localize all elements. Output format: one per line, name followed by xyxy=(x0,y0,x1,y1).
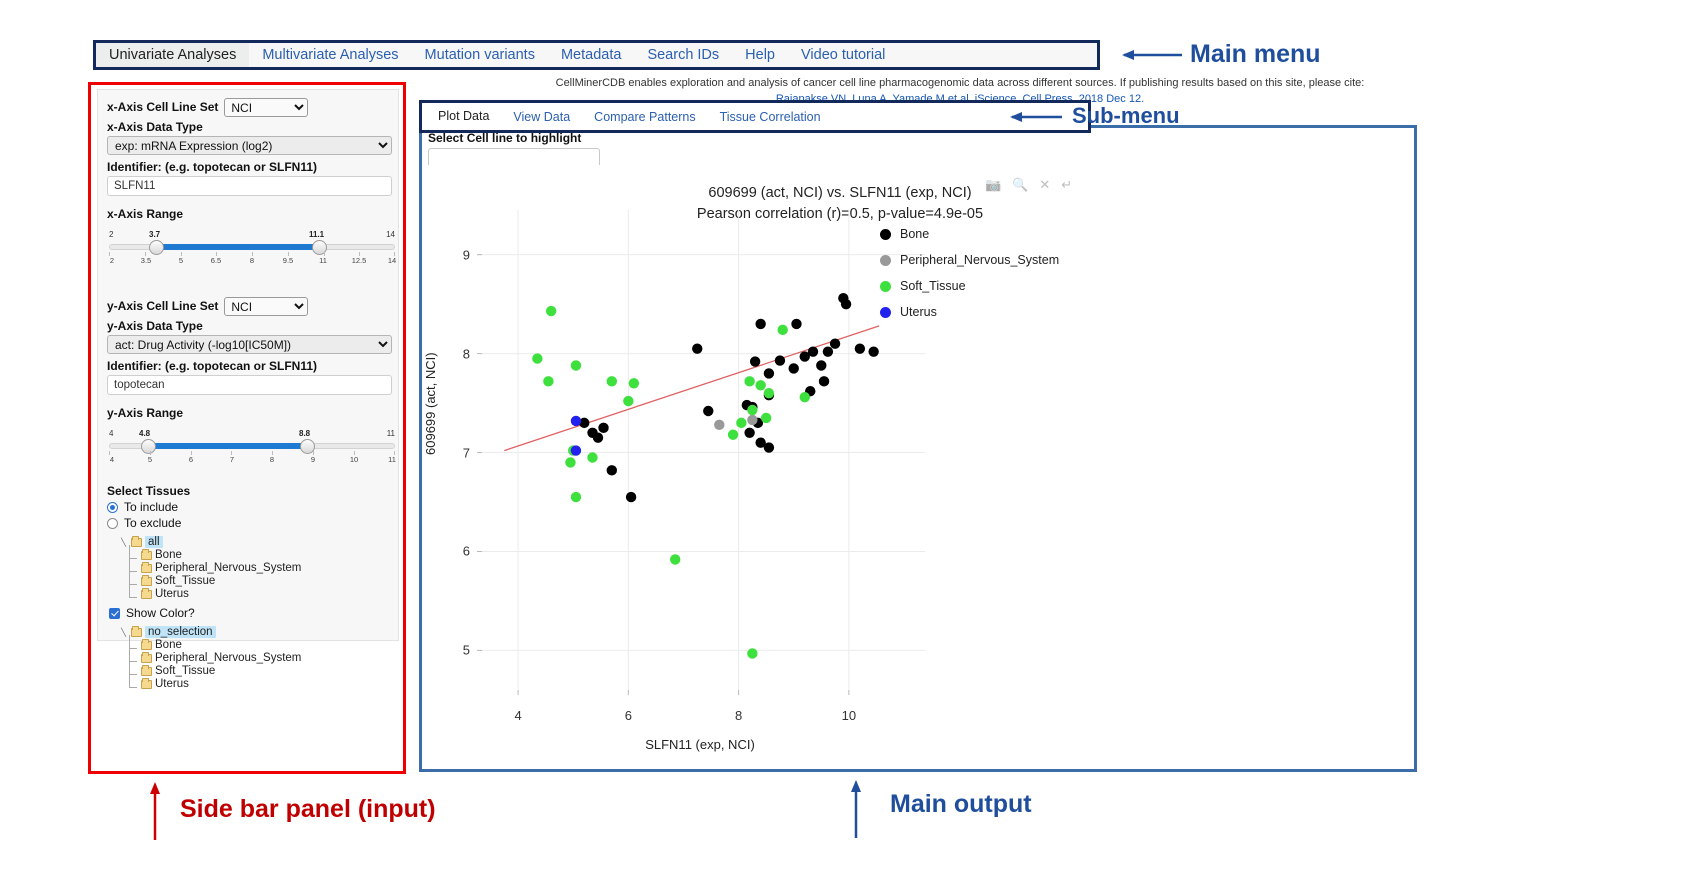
folder-icon xyxy=(141,680,152,689)
show-color-checkbox-icon[interactable] xyxy=(109,608,120,619)
x-tick-label: 2 xyxy=(110,256,114,265)
x-axis-data-type-label: x-Axis Data Type xyxy=(107,120,389,134)
x-range-min-label: 2 xyxy=(109,230,113,239)
plot-legend: Bone Peripheral_Nervous_System Soft_Tiss… xyxy=(880,227,1059,331)
annotation-sidebar: Side bar panel (input) xyxy=(180,795,436,824)
y-range-min-label: 4 xyxy=(109,429,113,438)
grid-lines xyxy=(477,210,925,690)
folder-icon xyxy=(141,641,152,650)
menu-label: Metadata xyxy=(561,47,621,63)
y-tick-label: 9 xyxy=(440,247,470,262)
menu-label: Mutation variants xyxy=(425,47,535,63)
tissue-exclude-radio-row[interactable]: To exclude xyxy=(107,516,389,530)
y-axis-range-title: y-Axis Range xyxy=(107,406,389,420)
x-slider-fill xyxy=(155,244,319,250)
folder-icon xyxy=(141,590,152,599)
arrow-main-output xyxy=(851,780,861,838)
annotation-main-output: Main output xyxy=(890,790,1032,819)
y-tick-label: 9 xyxy=(311,455,315,464)
y-tick-label: 8 xyxy=(440,346,470,361)
y-axis-cell-line-set-row: y-Axis Cell Line Set NCI xyxy=(107,297,389,316)
legend-label: Peripheral_Nervous_System xyxy=(900,253,1059,267)
menu-item-help[interactable]: Help xyxy=(732,43,788,67)
citation-line-1: CellMinerCDB enables exploration and ana… xyxy=(430,76,1490,92)
y-axis-data-type-label: y-Axis Data Type xyxy=(107,319,389,333)
y-range-max-label: 11 xyxy=(387,429,395,438)
y-axis-cell-line-set-select[interactable]: NCI xyxy=(224,297,308,316)
y-tick-label: 11 xyxy=(388,455,396,464)
data-points xyxy=(532,293,879,659)
y-tick-label: 6 xyxy=(189,455,193,464)
y-tick-label: 4 xyxy=(110,455,114,464)
x-axis-cell-line-set-select[interactable]: NCI xyxy=(224,98,308,117)
legend-label: Bone xyxy=(900,227,929,241)
expander-icon[interactable]: ╲ xyxy=(119,628,128,637)
y-range-low-value: 4.8 xyxy=(139,429,150,438)
highlight-cell-line-block: Select Cell line to highlight xyxy=(428,131,600,169)
scatter-plot: 609699 (act, NCI) vs. SLFN11 (exp, NCI) … xyxy=(425,165,1410,765)
menu-label: Multivariate Analyses xyxy=(262,47,398,63)
sub-menu-bar: Plot Data View Data Compare Patterns Tis… xyxy=(419,100,1091,133)
show-color-row[interactable]: Show Color? xyxy=(109,606,389,620)
legend-label: Uterus xyxy=(900,305,937,319)
y-tick-label: 6 xyxy=(440,544,470,559)
x-slider-tick-labels: 2 3.5 5 6.5 8 9.5 11 12.5 14 xyxy=(109,256,395,266)
legend-item-uterus[interactable]: Uterus xyxy=(880,305,1059,319)
arrow-main-menu xyxy=(1122,50,1182,60)
x-tick-label: 9.5 xyxy=(283,256,293,265)
y-tick-label: 10 xyxy=(350,455,358,464)
radio-to-exclude-label: To exclude xyxy=(124,516,181,530)
tree-node-no-selection[interactable]: ╲ no_selection xyxy=(119,626,389,638)
radio-to-exclude-icon[interactable] xyxy=(107,518,118,529)
tab-label: Tissue Correlation xyxy=(720,110,821,124)
tissue-include-radio-row[interactable]: To include xyxy=(107,500,389,514)
x-axis-identifier-label: Identifier: (e.g. topotecan or SLFN11) xyxy=(107,160,389,174)
legend-item-bone[interactable]: Bone xyxy=(880,227,1059,241)
y-axis-identifier-input[interactable] xyxy=(107,375,392,395)
menu-item-video-tutorial[interactable]: Video tutorial xyxy=(788,43,898,67)
y-axis-data-type-select[interactable]: act: Drug Activity (-log10[IC50M]) xyxy=(107,335,392,354)
y-tick-label: 5 xyxy=(440,643,470,658)
x-axis-data-type-select[interactable]: exp: mRNA Expression (log2) xyxy=(107,136,392,155)
tree-item-bone[interactable]: Bone xyxy=(141,549,389,561)
tab-compare-patterns[interactable]: Compare Patterns xyxy=(582,103,707,130)
tab-plot-data[interactable]: Plot Data xyxy=(426,103,501,130)
expander-icon[interactable]: ╲ xyxy=(119,538,128,547)
folder-icon xyxy=(141,577,152,586)
y-axis-range-slider[interactable]: 4 11 4.8 8.8 4 5 6 7 8 9 10 11 xyxy=(109,430,395,464)
legend-dot-icon xyxy=(880,281,891,292)
tissue-tree: ╲ all Bone Peripheral_Nervous_System Sof… xyxy=(119,536,389,600)
folder-icon xyxy=(141,654,152,663)
annotation-main-menu: Main menu xyxy=(1190,40,1321,69)
menu-item-metadata[interactable]: Metadata xyxy=(548,43,634,67)
x-range-low-value: 3.7 xyxy=(149,230,160,239)
folder-icon xyxy=(141,551,152,560)
show-color-label: Show Color? xyxy=(126,606,195,620)
y-tick-label: 8 xyxy=(270,455,274,464)
y-tick-label: 7 xyxy=(440,445,470,460)
menu-item-mutation-variants[interactable]: Mutation variants xyxy=(412,43,548,67)
y-axis-cell-line-set-label: y-Axis Cell Line Set xyxy=(107,299,218,313)
annotation-sub-menu: Sub-menu xyxy=(1072,103,1180,129)
y-slider-fill xyxy=(147,443,307,449)
x-tick-label: 8 xyxy=(724,708,754,723)
x-axis-range-slider[interactable]: 2 14 3.7 11.1 2 3.5 5 6.5 8 9.5 11 12.5 … xyxy=(109,231,395,265)
y-tick-label: 7 xyxy=(230,455,234,464)
tree-item-peripheral-nervous-system[interactable]: Peripheral_Nervous_System xyxy=(141,562,389,574)
y-tick-label: 5 xyxy=(148,455,152,464)
x-tick-label: 5 xyxy=(179,256,183,265)
tree-item-label: Soft_Tissue xyxy=(155,575,215,587)
x-range-max-label: 14 xyxy=(386,230,395,239)
legend-item-peripheral-nervous-system[interactable]: Peripheral_Nervous_System xyxy=(880,253,1059,267)
x-tick-label: 11 xyxy=(319,256,327,265)
tab-label: Compare Patterns xyxy=(594,110,695,124)
tree-item-soft-tissue[interactable]: Soft_Tissue xyxy=(141,575,389,587)
x-axis-range-title: x-Axis Range xyxy=(107,207,389,221)
color-item-bone[interactable]: Bone xyxy=(141,639,389,651)
x-tick-label: 12.5 xyxy=(352,256,367,265)
x-axis-cell-line-set-label: x-Axis Cell Line Set xyxy=(107,100,218,114)
arrow-sidebar xyxy=(150,782,160,840)
tab-label: View Data xyxy=(513,110,570,124)
color-item-label: Bone xyxy=(155,639,182,651)
tree-node-all-label: all xyxy=(145,536,163,548)
tree-item-label: Uterus xyxy=(155,588,189,600)
radio-to-include-label: To include xyxy=(124,500,178,514)
menu-label: Univariate Analyses xyxy=(109,47,236,63)
menu-item-multivariate-analyses[interactable]: Multivariate Analyses xyxy=(249,43,411,67)
color-tree: ╲ no_selection Bone Peripheral_Nervous_S… xyxy=(119,626,389,690)
sub-menu: Plot Data View Data Compare Patterns Tis… xyxy=(422,103,1088,130)
tree-node-no-selection-label: no_selection xyxy=(145,626,216,638)
trend-line xyxy=(504,326,879,451)
menu-label: Video tutorial xyxy=(801,47,885,63)
x-tick-label: 4 xyxy=(503,708,533,723)
main-menu: Univariate Analyses Multivariate Analyse… xyxy=(96,43,1097,67)
tree-item-label: Peripheral_Nervous_System xyxy=(155,562,301,574)
menu-label: Help xyxy=(745,47,775,63)
folder-icon xyxy=(131,538,142,547)
color-item-label: Peripheral_Nervous_System xyxy=(155,652,301,664)
x-range-high-value: 11.1 xyxy=(309,230,324,239)
color-item-uterus[interactable]: Uterus xyxy=(141,678,389,690)
x-axis-cell-line-set-row: x-Axis Cell Line Set NCI xyxy=(107,98,389,117)
x-tick-label: 8 xyxy=(250,256,254,265)
menu-item-search-ids[interactable]: Search IDs xyxy=(634,43,732,67)
color-item-label: Soft_Tissue xyxy=(155,665,215,677)
folder-icon xyxy=(141,667,152,676)
y-axis-identifier-label: Identifier: (e.g. topotecan or SLFN11) xyxy=(107,359,389,373)
y-range-high-value: 8.8 xyxy=(299,429,310,438)
folder-icon xyxy=(141,564,152,573)
legend-dot-icon xyxy=(880,255,891,266)
color-item-soft-tissue[interactable]: Soft_Tissue xyxy=(141,665,389,677)
sidebar-panel: x-Axis Cell Line Set NCI x-Axis Data Typ… xyxy=(97,89,399,641)
legend-item-soft-tissue[interactable]: Soft_Tissue xyxy=(880,279,1059,293)
legend-dot-icon xyxy=(880,229,891,240)
tab-tissue-correlation[interactable]: Tissue Correlation xyxy=(708,103,833,130)
x-tick-label: 3.5 xyxy=(141,256,151,265)
select-tissues-title: Select Tissues xyxy=(107,484,389,498)
menu-label: Search IDs xyxy=(647,47,719,63)
x-tick-label: 14 xyxy=(388,256,396,265)
legend-dot-icon xyxy=(880,307,891,318)
tree-item-uterus[interactable]: Uterus xyxy=(141,588,389,600)
x-axis-identifier-input[interactable] xyxy=(107,176,392,196)
tab-view-data[interactable]: View Data xyxy=(501,103,582,130)
x-tick-label: 6.5 xyxy=(211,256,221,265)
color-item-label: Uterus xyxy=(155,678,189,690)
sidebar-panel-outline: x-Axis Cell Line Set NCI x-Axis Data Typ… xyxy=(88,82,406,774)
tree-node-all[interactable]: ╲ all xyxy=(119,536,389,548)
legend-label: Soft_Tissue xyxy=(900,279,966,293)
radio-to-include-icon[interactable] xyxy=(107,502,118,513)
tab-label: Plot Data xyxy=(438,109,489,123)
folder-icon xyxy=(131,628,142,637)
main-menu-bar: Univariate Analyses Multivariate Analyse… xyxy=(93,40,1100,70)
highlight-label: Select Cell line to highlight xyxy=(428,131,600,145)
tree-item-label: Bone xyxy=(155,549,182,561)
y-slider-tick-labels: 4 5 6 7 8 9 10 11 xyxy=(109,455,395,465)
menu-item-univariate-analyses[interactable]: Univariate Analyses xyxy=(96,43,249,67)
x-tick-label: 6 xyxy=(613,708,643,723)
x-tick-label: 10 xyxy=(834,708,864,723)
color-item-peripheral-nervous-system[interactable]: Peripheral_Nervous_System xyxy=(141,652,389,664)
